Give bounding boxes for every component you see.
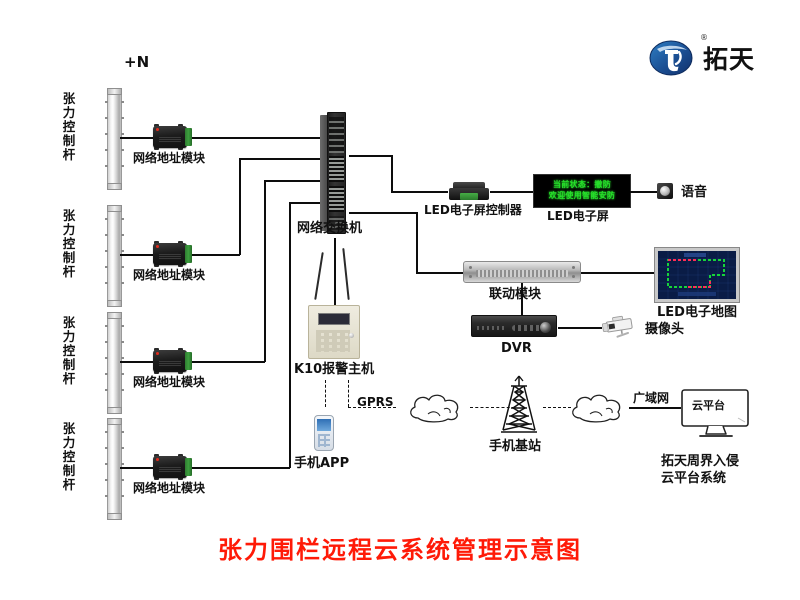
led-map-label: LED电子地图	[657, 306, 737, 321]
wire-pole1-module1	[120, 137, 153, 139]
network-address-module-2	[150, 241, 194, 267]
led-controller-label: LED电子屏控制器	[424, 204, 522, 218]
tension-pole-label-4: 张力控制杆	[62, 422, 76, 492]
linkage-module-device	[463, 261, 581, 283]
network-address-module-label-3: 网络地址模块	[133, 376, 205, 390]
wire-switch-ledctl-h2	[391, 191, 448, 193]
led-screen-line1: 当前状态：撤防	[553, 180, 611, 191]
cloud-platform-monitor-icon	[680, 388, 752, 440]
tension-pole-3	[107, 312, 122, 414]
voice-label: 语音	[681, 186, 707, 201]
wire-switch-ledctl-v	[391, 155, 393, 192]
wire-module4-switch	[289, 202, 323, 204]
wire-module3-h	[192, 361, 265, 363]
cloud-platform-caption-line2: 云平台系统	[661, 472, 726, 487]
tension-pole-4	[107, 418, 122, 520]
tension-pole-label-3: 张力控制杆	[62, 316, 76, 386]
wire-ledctl-ledscreen	[490, 191, 534, 193]
wire-switch-linkage-v	[416, 212, 418, 273]
wire-dvr-camera	[558, 327, 602, 329]
wan-label: 广域网	[633, 392, 669, 406]
wire-module3-switch	[264, 180, 323, 182]
gprs-label: GPRS	[357, 396, 394, 410]
led-screen-device: 当前状态：撤防 欢迎使用智能安防	[534, 175, 630, 207]
wire-module2-v	[239, 158, 241, 255]
base-station-label: 手机基站	[489, 440, 541, 455]
antenna-right	[342, 248, 349, 300]
wire-linkage-ledmap	[581, 272, 655, 274]
cloud-platform-screen-label: 云平台	[692, 400, 725, 413]
network-address-module-label-4: 网络地址模块	[133, 482, 205, 496]
wire-pole4-module4	[120, 467, 153, 469]
cloud-platform-caption-line1: 拓天周界入侵	[661, 455, 739, 470]
tuotian-logo-icon	[648, 38, 696, 78]
led-screen-label: LED电子屏	[547, 210, 609, 224]
tension-pole-1	[107, 88, 122, 190]
alarm-host-label: K10报警主机	[294, 363, 374, 378]
brand-name: 拓天	[703, 40, 755, 76]
network-switch	[320, 112, 348, 234]
led-map-device	[655, 248, 739, 302]
wire-switch-ledctl-h1	[349, 155, 392, 157]
mobile-app-device	[314, 415, 334, 451]
registered-mark: ®	[700, 33, 708, 42]
cloud-icon-2	[566, 390, 632, 426]
voice-speaker-icon	[657, 183, 673, 199]
tension-pole-2	[107, 205, 122, 307]
wire-module2-switch	[239, 158, 323, 160]
wire-module2-h	[192, 254, 240, 256]
wire-module3-v	[264, 180, 266, 362]
camera-label: 摄像头	[645, 323, 684, 338]
wire-module1-switch	[192, 137, 323, 139]
dash-alarmhost-gprs-left	[325, 380, 326, 407]
tension-pole-label-2: 张力控制杆	[62, 209, 76, 279]
wire-module4-v	[289, 202, 291, 468]
network-address-module-4	[150, 454, 194, 480]
camera-icon	[601, 315, 641, 339]
wire-module4-h	[192, 467, 290, 469]
dash-alarmhost-gprs-right	[348, 380, 349, 407]
network-address-module-label-1: 网络地址模块	[133, 152, 205, 166]
wire-cloud2-platform	[629, 407, 681, 409]
antenna-left	[314, 252, 323, 300]
wire-switch-linkage-h1	[349, 212, 417, 214]
wire-switch-linkage-h2	[416, 272, 464, 274]
network-address-module-1	[150, 124, 194, 150]
base-station-tower-icon	[495, 374, 543, 434]
network-address-module-3	[150, 348, 194, 374]
linkage-module-label: 联动模块	[489, 288, 541, 303]
diagram-title: 张力围栏远程云系统管理示意图	[0, 530, 800, 565]
wire-pole2-module2	[120, 254, 153, 256]
network-address-module-label-2: 网络地址模块	[133, 269, 205, 283]
alarm-host-device	[308, 305, 360, 359]
diagram-canvas: 拓天 ® +N 张力控制杆 张力控制杆 张力控制杆	[0, 0, 800, 600]
mobile-app-label: 手机APP	[294, 457, 349, 472]
dvr-device	[471, 315, 557, 337]
led-controller-device	[449, 182, 489, 200]
plus-n-annotation: +N	[124, 53, 149, 71]
led-screen-line2: 欢迎使用智能安防	[549, 191, 615, 202]
cloud-icon-1	[404, 390, 470, 426]
brand-logo: 拓天	[648, 38, 755, 78]
dvr-label: DVR	[501, 342, 532, 357]
tension-pole-label-1: 张力控制杆	[62, 92, 76, 162]
wire-linkage-dvr	[521, 283, 523, 315]
wire-switch-alarmhost	[334, 238, 336, 311]
led-map-graphic	[658, 251, 736, 299]
wire-pole3-module3	[120, 361, 153, 363]
network-switch-label: 网络交换机	[297, 222, 362, 237]
wire-ledscreen-voice	[630, 191, 658, 193]
